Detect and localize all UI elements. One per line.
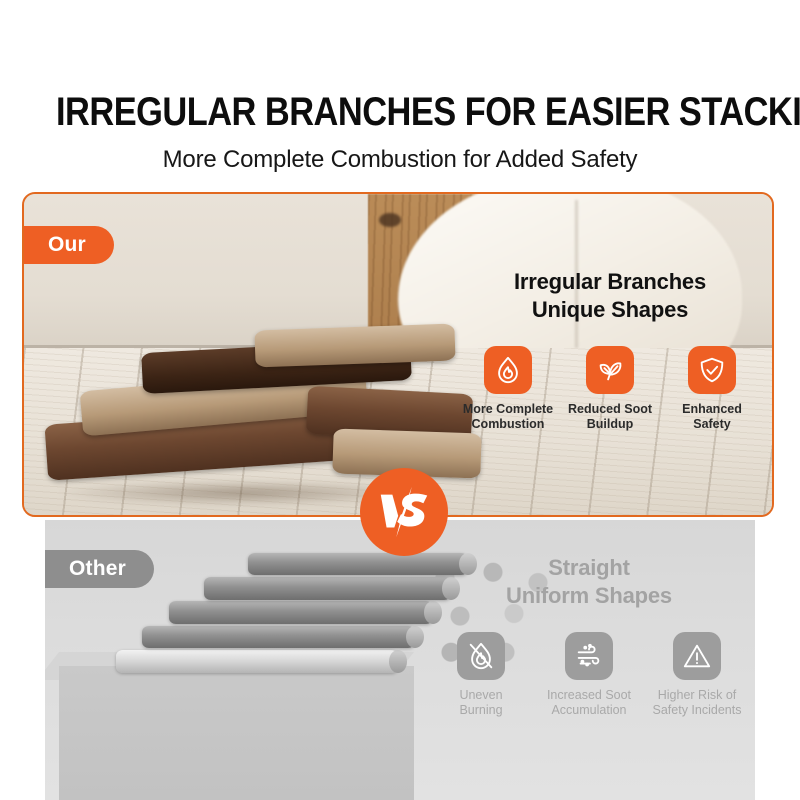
feature-label-line2: Combustion [462,417,554,432]
gray-log [204,577,451,600]
feature-increased-soot-accumulation: Increased Soot Accumulation [537,632,641,718]
ceramic-log [254,324,455,368]
our-feature-row: More Complete Combustion Reduced Soot [462,346,758,432]
feature-label-line1: Increased Soot [537,688,641,703]
other-title-line2: Uniform Shapes [429,582,749,610]
feature-label-line1: Enhanced [666,402,758,417]
feature-enhanced-safety: Enhanced Safety [666,346,758,432]
gray-log [169,601,433,624]
other-feature-row: Uneven Burning I [429,632,749,718]
gray-log [116,650,398,673]
page-subtitle: More Complete Combustion for Added Safet… [0,146,800,174]
feature-higher-risk-safety-incidents: Higher Risk of Safety Incidents [645,632,749,718]
feature-label-line1: Reduced Soot [564,402,656,417]
our-title-line2: Unique Shapes [462,296,758,324]
leaf-icon [586,346,634,394]
feature-label-line2: Burning [429,703,533,718]
other-badge-label: Other [69,557,126,581]
page-title: IRREGULAR BRANCHES FOR EASIER STACKING [56,92,744,132]
feature-reduced-soot-buildup: Reduced Soot Buildup [564,346,656,432]
header: IRREGULAR BRANCHES FOR EASIER STACKING M… [0,0,800,174]
feature-label-line2: Safety Incidents [645,703,749,718]
soot-wind-icon [565,632,613,680]
warning-triangle-icon [673,632,721,680]
other-badge: Other [45,550,154,588]
feature-label: Higher Risk of Safety Incidents [645,688,749,718]
our-title: Irregular Branches Unique Shapes [462,268,758,324]
gray-log [142,626,415,649]
feature-label: Uneven Burning [429,688,533,718]
feature-more-complete-combustion: More Complete Combustion [462,346,554,432]
vs-glyph [373,481,435,543]
feature-label: Enhanced Safety [666,402,758,432]
feature-label: Increased Soot Accumulation [537,688,641,718]
feature-label-line1: Uneven [429,688,533,703]
vs-badge [360,468,448,556]
shield-check-icon [688,346,736,394]
feature-uneven-burning: Uneven Burning [429,632,533,718]
feature-label-line1: Higher Risk of [645,688,749,703]
feature-label-line2: Safety [666,417,758,432]
other-title: Straight Uniform Shapes [429,554,749,610]
feature-label-line2: Buildup [564,417,656,432]
feature-label-line1: More Complete [462,402,554,417]
flame-icon [484,346,532,394]
other-title-line1: Straight [429,554,749,582]
our-feature-block: Irregular Branches Unique Shapes More Co… [462,268,758,432]
flame-crossed-icon [457,632,505,680]
other-product-panel: Other Straight Uniform Shapes Uneven Bur… [45,520,755,800]
feature-label: Reduced Soot Buildup [564,402,656,432]
our-badge-label: Our [48,233,86,257]
feature-label-line2: Accumulation [537,703,641,718]
other-feature-block: Straight Uniform Shapes Uneven Burning [429,554,749,718]
our-title-line1: Irregular Branches [462,268,758,296]
our-badge: Our [24,226,114,264]
feature-label: More Complete Combustion [462,402,554,432]
